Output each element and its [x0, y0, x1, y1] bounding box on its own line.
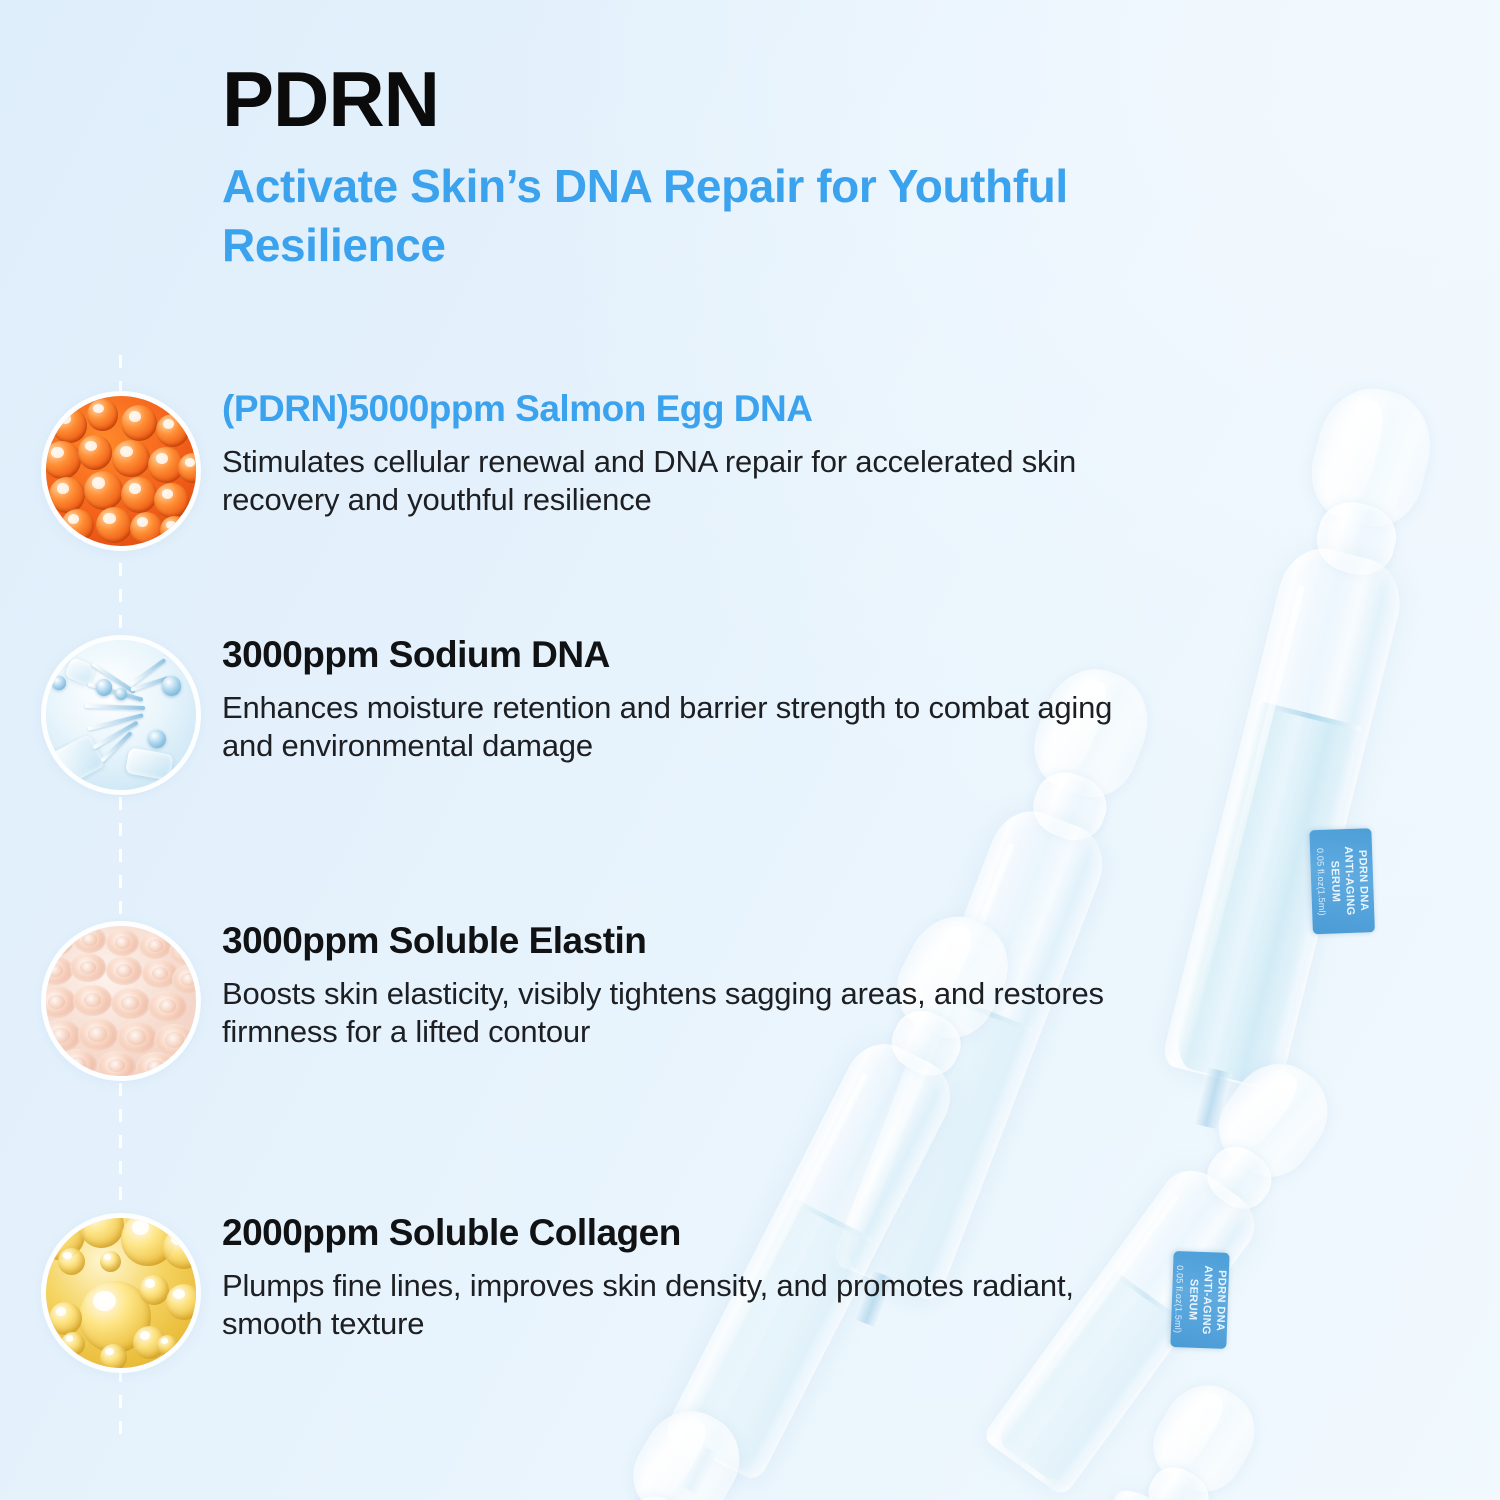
- pdrn-ingredient-infographic: PDRN DNA ANTI-AGING SERUM 0.05 fl.oz(1.5…: [0, 0, 1500, 1500]
- feature-title: 2000ppm Soluble Collagen: [222, 1212, 1130, 1253]
- headline-subtitle: Activate Skin’s DNA Repair for Youthful …: [222, 157, 1222, 275]
- oil-bubbles-icon: [46, 1218, 196, 1368]
- feature-title: 3000ppm Soluble Elastin: [222, 920, 1130, 961]
- feature-description: Boosts skin elasticity, visibly tightens…: [222, 975, 1130, 1051]
- feature-title: (PDRN)5000ppm Salmon Egg DNA: [222, 388, 1130, 429]
- feature-description: Plumps fine lines, improves skin density…: [222, 1267, 1130, 1343]
- feature-item-soluble-elastin: 3000ppm Soluble Elastin Boosts skin elas…: [0, 920, 1130, 1051]
- page-title: PDRN: [222, 62, 1222, 137]
- feature-text-block: (PDRN)5000ppm Salmon Egg DNA Stimulates …: [222, 388, 1130, 519]
- feature-item-soluble-collagen: 2000ppm Soluble Collagen Plumps fine lin…: [0, 1212, 1130, 1343]
- feature-description: Stimulates cellular renewal and DNA repa…: [222, 443, 1130, 519]
- skin-cells-icon: [46, 926, 196, 1076]
- feature-description: Enhances moisture retention and barrier …: [222, 689, 1130, 765]
- header-block: PDRN Activate Skin’s DNA Repair for Yout…: [222, 62, 1222, 275]
- feature-item-sodium-dna: 3000ppm Sodium DNA Enhances moisture ret…: [0, 634, 1130, 765]
- feature-item-salmon-egg-dna: (PDRN)5000ppm Salmon Egg DNA Stimulates …: [0, 388, 1130, 519]
- dna-helix-icon: [46, 640, 196, 790]
- content-column: PDRN Activate Skin’s DNA Repair for Yout…: [0, 0, 1500, 1500]
- salmon-roe-icon: [46, 396, 196, 546]
- feature-text-block: 2000ppm Soluble Collagen Plumps fine lin…: [222, 1212, 1130, 1343]
- feature-title: 3000ppm Sodium DNA: [222, 634, 1130, 675]
- feature-text-block: 3000ppm Soluble Elastin Boosts skin elas…: [222, 920, 1130, 1051]
- feature-text-block: 3000ppm Sodium DNA Enhances moisture ret…: [222, 634, 1130, 765]
